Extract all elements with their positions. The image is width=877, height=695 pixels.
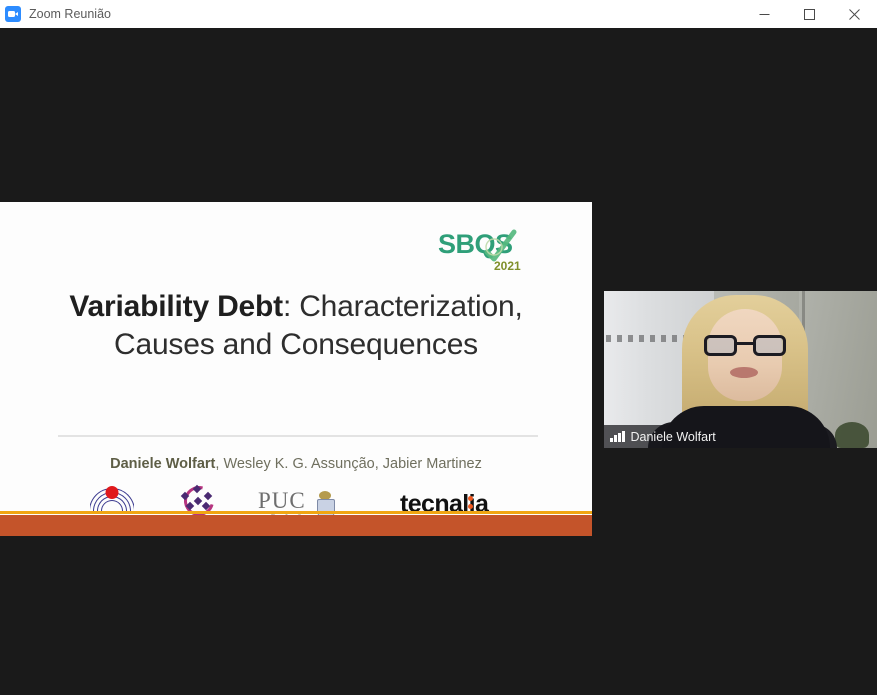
tecnalia-dots-icon	[468, 496, 473, 512]
slide-title: Variability Debt: Characterization, Caus…	[24, 288, 568, 364]
minimize-icon	[759, 9, 770, 20]
maximize-button[interactable]	[787, 0, 832, 28]
participant-name: Daniele Wolfart	[631, 430, 716, 444]
author-others: , Wesley K. G. Assunção, Jabier Martinez	[215, 456, 481, 472]
video-person-glasses	[704, 335, 786, 356]
unioeste-mark	[90, 483, 134, 511]
window-title: Zoom Reunião	[29, 7, 111, 21]
participant-video-tile[interactable]: Daniele Wolfart	[604, 291, 877, 448]
slide-authors: Daniele Wolfart, Wesley K. G. Assunção, …	[24, 456, 568, 472]
window-controls	[742, 0, 877, 28]
ppgcomp-mark	[179, 484, 215, 512]
close-button[interactable]	[832, 0, 877, 28]
slide-accent-bar	[0, 515, 592, 536]
unioeste-dot	[106, 486, 119, 499]
maximize-icon	[804, 9, 815, 20]
sbqs-logo: SBQS 2021	[438, 226, 530, 274]
close-icon	[849, 9, 860, 20]
svg-text:2021: 2021	[494, 259, 521, 273]
meeting-stage: SBQS 2021 Variability Debt: Characteriza…	[0, 28, 877, 695]
shared-screen-slide[interactable]: SBQS 2021 Variability Debt: Characteriza…	[0, 202, 592, 536]
slide-accent-thin	[0, 511, 592, 514]
window-titlebar: Zoom Reunião	[0, 0, 877, 28]
video-person-mouth	[730, 367, 758, 378]
participant-name-badge: Daniele Wolfart	[604, 425, 725, 448]
author-primary: Daniele Wolfart	[110, 456, 215, 472]
minimize-button[interactable]	[742, 0, 787, 28]
zoom-camera-icon	[5, 6, 21, 22]
video-plant	[835, 422, 869, 448]
slide-title-bold: Variability Debt	[69, 290, 283, 323]
slide-divider	[58, 435, 538, 437]
puc-label: PUC	[258, 490, 306, 512]
signal-bars-icon	[610, 431, 625, 442]
